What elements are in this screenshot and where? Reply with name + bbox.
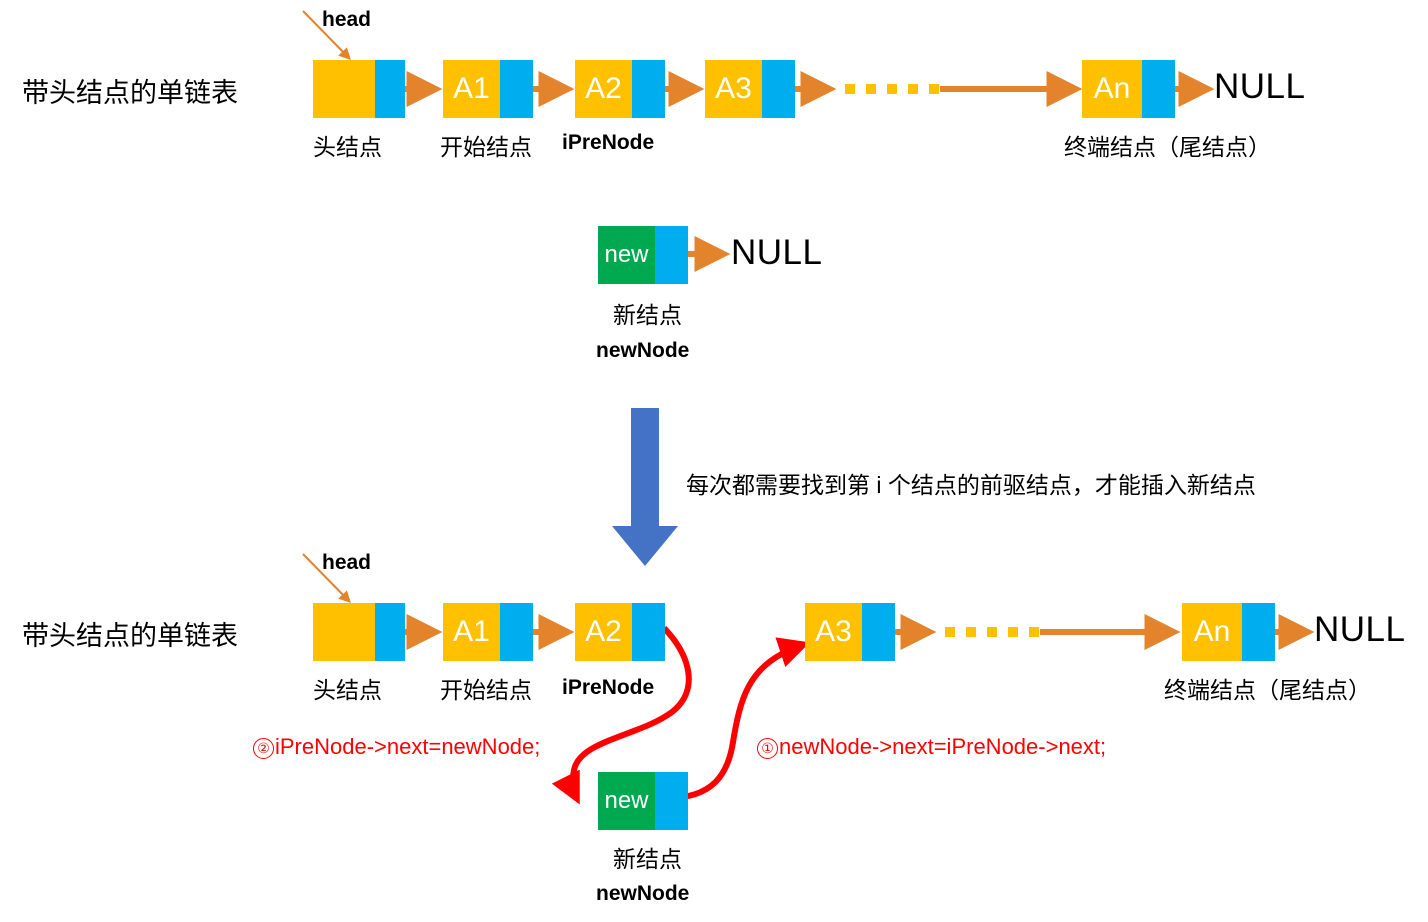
- top-node-a2-var: iPreNode: [562, 131, 654, 155]
- top-node-an-caption: 终端结点（尾结点）: [1064, 128, 1271, 162]
- bottom-node-an: An: [1182, 603, 1275, 661]
- top-node-a2-data: A2: [575, 60, 632, 118]
- top-node-head: [313, 60, 405, 118]
- annotation-step-1: ①newNode->next=iPreNode->next;: [757, 734, 1106, 760]
- annotation-step-2-text: iPreNode->next=newNode;: [275, 734, 540, 759]
- diagram-canvas: 带头结点的单链表 head 头结点 A1 开始结点 A2 iPreNode A3…: [0, 0, 1428, 922]
- top-node-a1-pointer: [500, 60, 533, 118]
- red-curve-newnode-to-a3: [668, 645, 802, 798]
- bottom-node-a2-var: iPreNode: [562, 676, 654, 700]
- bottom-node-a2-pointer: [632, 603, 665, 661]
- bottom-node-a2-data: A2: [575, 603, 632, 661]
- bottom-node-head-caption: 头结点: [313, 671, 382, 705]
- bottom-node-an-caption: 终端结点（尾结点）: [1164, 671, 1371, 705]
- annotation-step-2: ②iPreNode->next=newNode;: [253, 734, 540, 760]
- new-node-pointer: [655, 226, 688, 284]
- bottom-node-a1: A1: [443, 603, 533, 661]
- bottom-new-node-var: newNode: [596, 882, 689, 906]
- top-head-pointer-label: head: [322, 8, 371, 32]
- annotation-step-1-marker: ①: [757, 738, 778, 759]
- bottom-node-head-pointer: [375, 603, 405, 661]
- new-node-null-label: NULL: [731, 233, 822, 273]
- top-diagram-title: 带头结点的单链表: [22, 71, 238, 110]
- bottom-new-node-data: new: [598, 772, 655, 830]
- bottom-node-a3: A3: [805, 603, 895, 661]
- bottom-node-a2: A2: [575, 603, 665, 661]
- transition-note: 每次都需要找到第 i 个结点的前驱结点，才能插入新结点: [686, 466, 1256, 500]
- bottom-node-a1-data: A1: [443, 603, 500, 661]
- top-node-a1: A1: [443, 60, 533, 118]
- bottom-node-a1-caption: 开始结点: [440, 671, 532, 705]
- top-node-an-pointer: [1142, 60, 1175, 118]
- transition-down-arrow: [612, 408, 678, 566]
- bottom-inserted-new-node: new: [598, 772, 688, 830]
- top-node-an: An: [1082, 60, 1175, 118]
- bottom-node-an-pointer: [1242, 603, 1275, 661]
- bottom-new-node-caption: 新结点: [613, 840, 682, 874]
- bottom-node-a3-pointer: [862, 603, 895, 661]
- bottom-node-head-data: [313, 603, 375, 661]
- top-node-an-data: An: [1082, 60, 1142, 118]
- bottom-ellipsis: [945, 627, 1039, 637]
- top-node-a3-data: A3: [705, 60, 762, 118]
- bottom-node-head: [313, 603, 405, 661]
- top-node-a1-caption: 开始结点: [440, 128, 532, 162]
- top-node-a3: A3: [705, 60, 795, 118]
- annotation-step-2-marker: ②: [253, 738, 274, 759]
- top-node-a1-data: A1: [443, 60, 500, 118]
- bottom-null-label: NULL: [1314, 610, 1405, 650]
- bottom-node-a3-data: A3: [805, 603, 862, 661]
- bottom-diagram-title: 带头结点的单链表: [22, 614, 238, 653]
- top-node-a2: A2: [575, 60, 665, 118]
- bottom-new-node-pointer: [655, 772, 688, 830]
- top-node-head-data: [313, 60, 375, 118]
- top-node-a2-pointer: [632, 60, 665, 118]
- bottom-node-a1-pointer: [500, 603, 533, 661]
- new-node-var: newNode: [596, 339, 689, 363]
- annotation-step-1-text: newNode->next=iPreNode->next;: [779, 734, 1106, 759]
- bottom-head-pointer-label: head: [322, 551, 371, 575]
- new-node-caption: 新结点: [613, 296, 682, 330]
- new-node-data: new: [598, 226, 655, 284]
- top-null-label: NULL: [1214, 67, 1305, 107]
- new-node-box: new: [598, 226, 688, 284]
- top-ellipsis: [845, 84, 939, 94]
- bottom-node-an-data: An: [1182, 603, 1242, 661]
- top-node-head-pointer: [375, 60, 405, 118]
- top-node-a3-pointer: [762, 60, 795, 118]
- top-node-head-caption: 头结点: [313, 128, 382, 162]
